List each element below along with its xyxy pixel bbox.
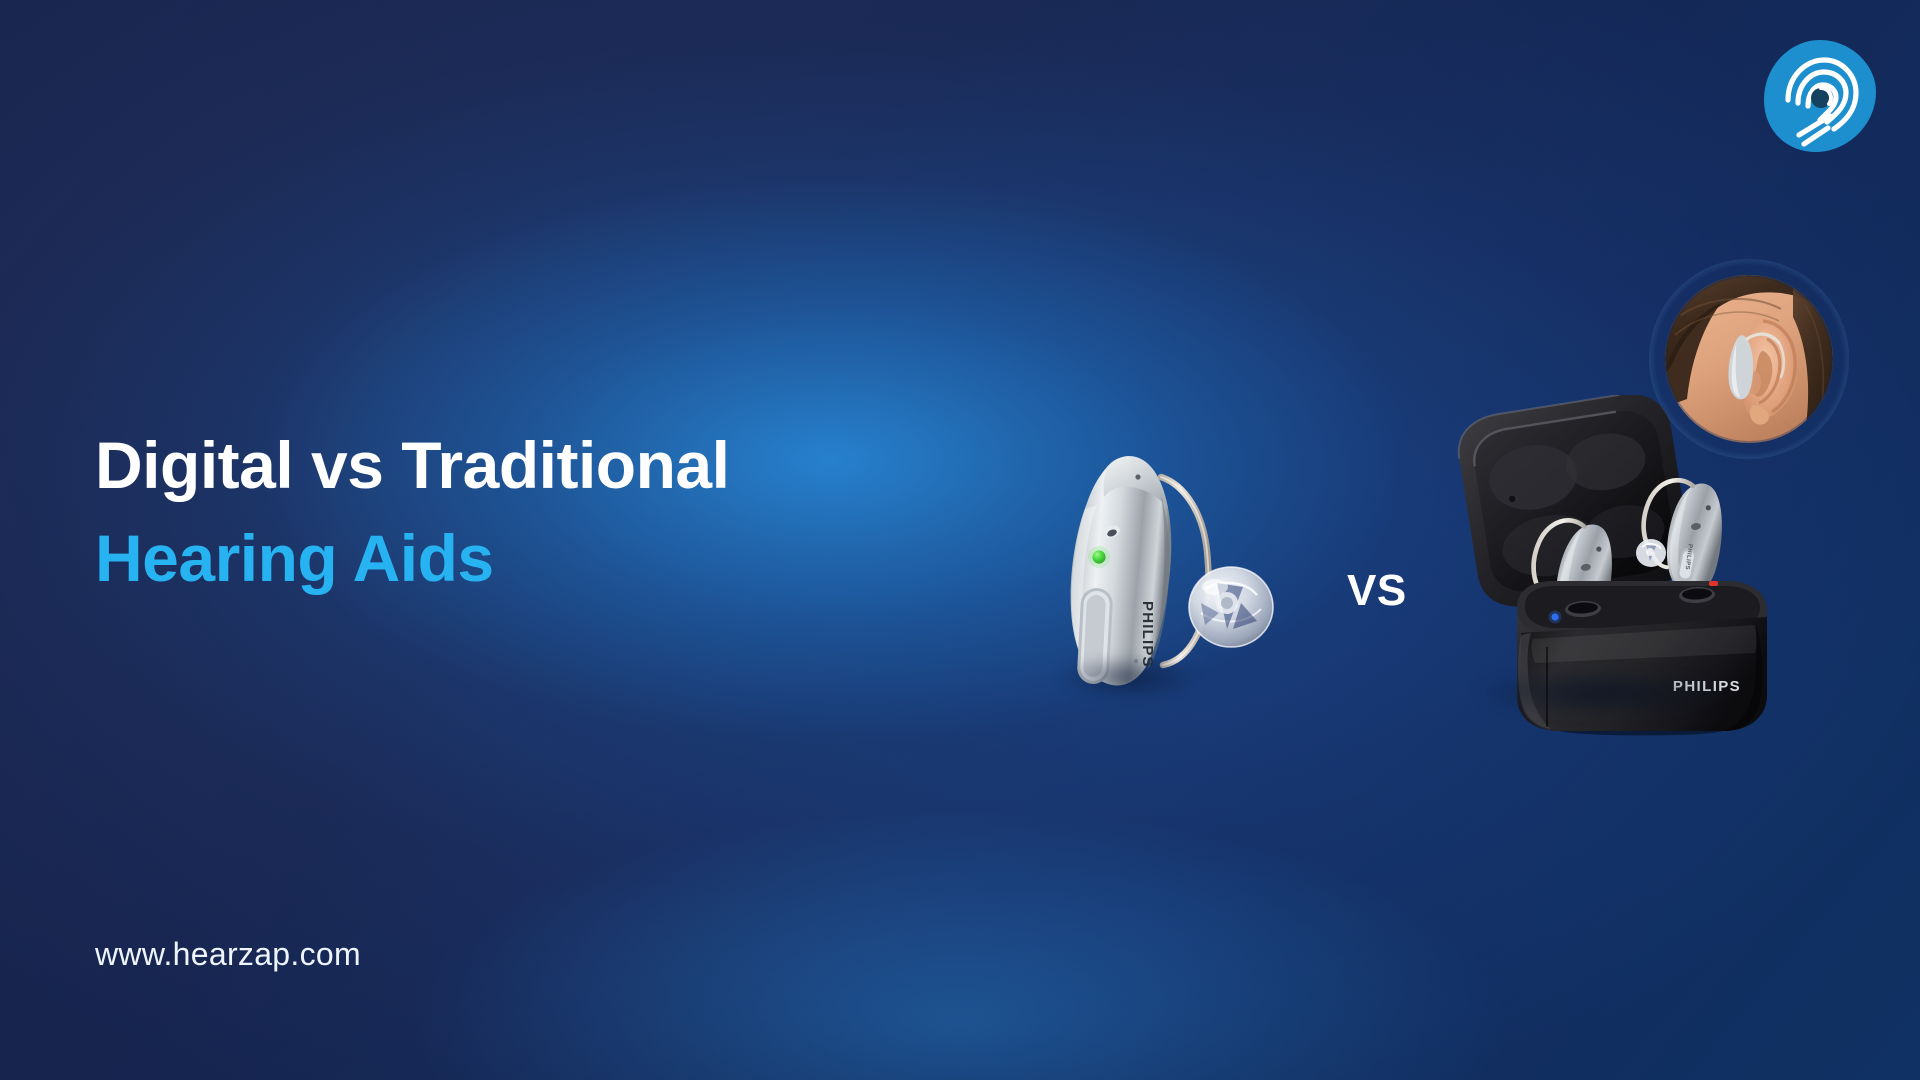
ear-photo-inset (1665, 275, 1833, 443)
website-url[interactable]: www.hearzap.com (95, 936, 361, 973)
case-drop-shadow (1475, 670, 1725, 716)
bte-hearing-aid-image: PHILIPS (1035, 405, 1355, 765)
headline-block: Digital vs Traditional Hearing Aids (95, 430, 729, 595)
hearzap-ear-logo-icon (1758, 34, 1882, 158)
hearzap-logo[interactable] (1758, 34, 1882, 158)
banner-canvas: Digital vs Traditional Hearing Aids www.… (0, 0, 1920, 1080)
ear-photo-halo (1649, 259, 1849, 459)
page-title-line-2: Hearing Aids (95, 523, 729, 594)
versus-label: VS (1347, 566, 1407, 616)
bte-drop-shadow (1057, 655, 1197, 699)
bte-hearing-aid-illustration: PHILIPS (1035, 405, 1355, 765)
page-title-line-1: Digital vs Traditional (95, 430, 729, 501)
